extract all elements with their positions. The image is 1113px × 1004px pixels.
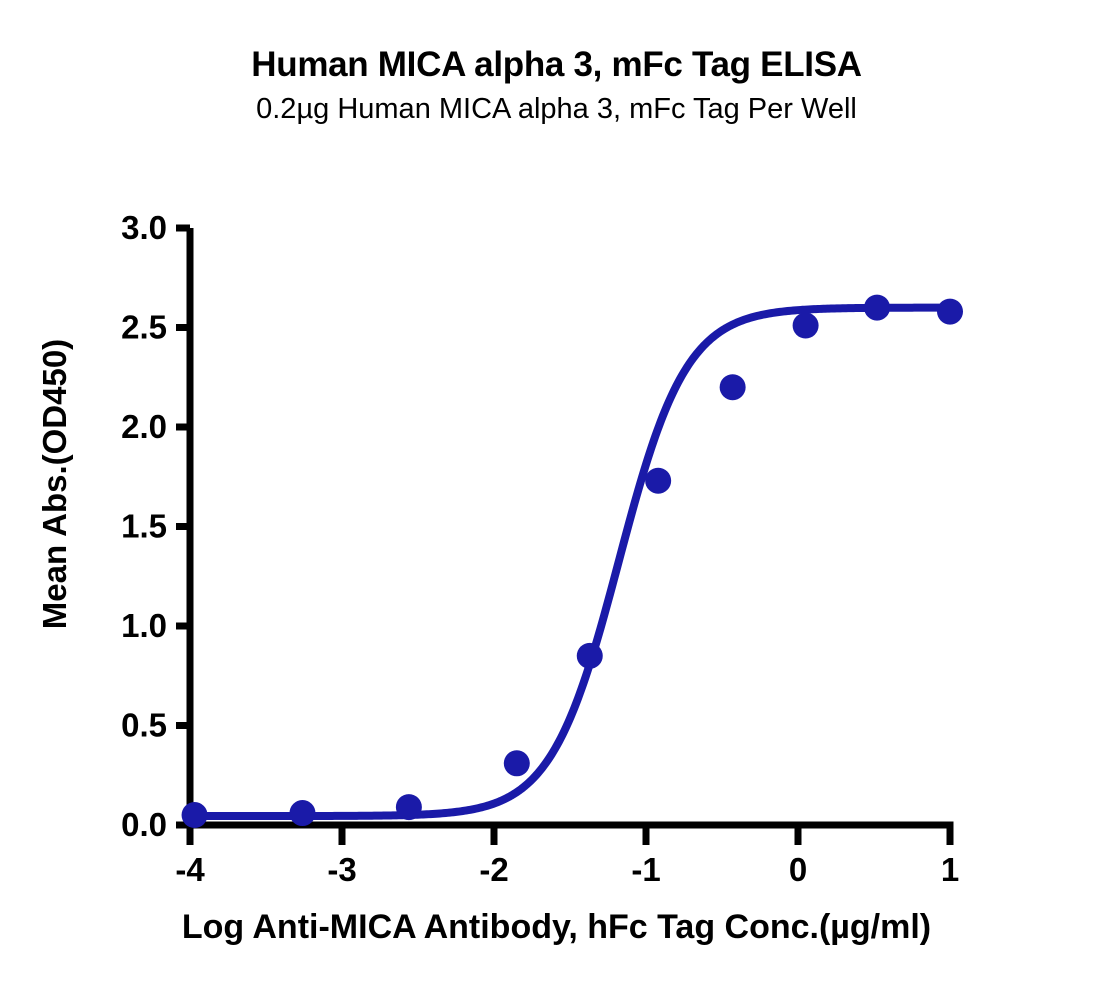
y-tick-label: 0.5 [121, 707, 167, 744]
y-tick-label: 0.0 [121, 806, 167, 843]
data-point [720, 374, 746, 400]
x-axis-label: Log Anti-MICA Antibody, hFc Tag Conc.(µg… [0, 908, 1113, 947]
data-point [937, 299, 963, 325]
data-point [504, 750, 530, 776]
data-point [289, 800, 315, 826]
data-points [182, 295, 963, 828]
axis-group [176, 228, 954, 845]
x-tick-label: -3 [327, 851, 356, 888]
x-tick-label: 0 [789, 851, 807, 888]
x-tick-label: -1 [631, 851, 660, 888]
data-point [793, 313, 819, 339]
y-tick-label: 1.5 [121, 508, 167, 545]
x-tick-label: -2 [479, 851, 508, 888]
x-tick-label: -4 [175, 851, 205, 888]
fit-curve [195, 308, 950, 816]
data-point [396, 794, 422, 820]
plot-area: 0.00.51.01.52.02.53.0-4-3-2-101 [0, 0, 1113, 1004]
data-point [645, 468, 671, 494]
x-tick-label: 1 [941, 851, 959, 888]
fit-curve-line [195, 308, 950, 816]
y-tick-label: 2.0 [121, 408, 167, 445]
data-point [182, 802, 208, 828]
y-tick-label: 3.0 [121, 209, 167, 246]
y-tick-label: 1.0 [121, 607, 167, 644]
y-tick-label: 2.5 [121, 309, 167, 346]
data-point [864, 295, 890, 321]
elisa-chart-figure: Human MICA alpha 3, mFc Tag ELISA 0.2µg … [0, 0, 1113, 1004]
data-point [577, 643, 603, 669]
